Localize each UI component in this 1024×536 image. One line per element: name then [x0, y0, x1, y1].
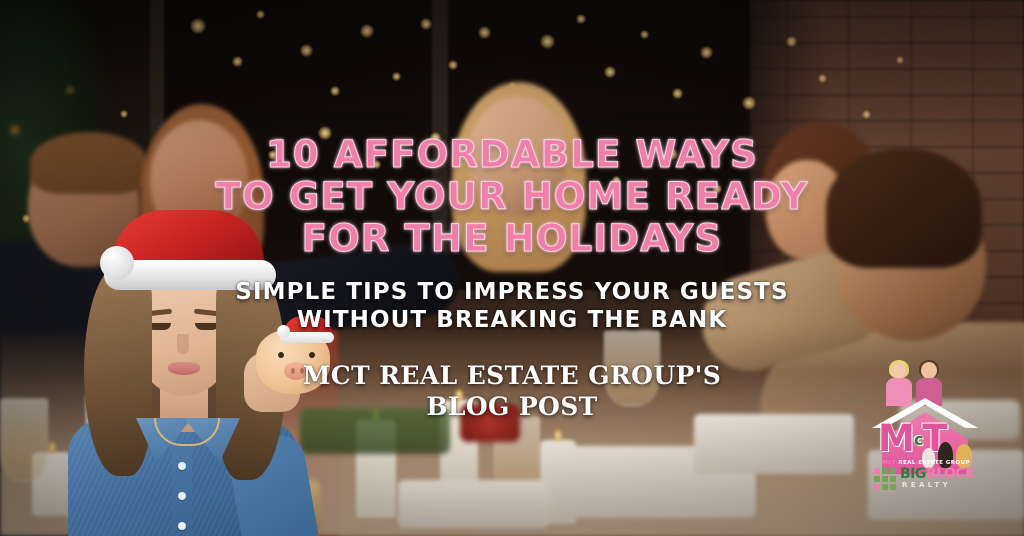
piggy-hat-pompom [277, 325, 290, 338]
logo-agent-brunette [916, 362, 942, 406]
grid-cell [890, 476, 896, 482]
piggy-eye [278, 352, 284, 358]
woman-lips [168, 362, 200, 375]
logo-brokerage-name: BIGBLOCK [900, 467, 976, 482]
grid-cell [890, 484, 896, 490]
piggy-santa-hat-icon [280, 316, 334, 346]
logo-agent-head [891, 362, 907, 379]
shirt-button [178, 462, 186, 470]
grid-cell [882, 468, 888, 474]
logo-agent-torso [886, 378, 912, 406]
grid-cell [874, 484, 880, 490]
piggy-snout [284, 362, 308, 380]
grid-cell [874, 468, 880, 474]
logo-agent-head [921, 362, 937, 379]
grid-cell [882, 476, 888, 482]
logo-brokerage-big: BIG [900, 466, 926, 482]
santa-hat-pompom [100, 246, 134, 280]
piggy-eye [309, 352, 315, 358]
logo-agents-illustration [884, 362, 950, 406]
grid-cell [890, 468, 896, 474]
piggy-nostril [300, 368, 304, 374]
logo-tagline-brand: McT [882, 460, 896, 466]
grid-cell [882, 484, 888, 490]
woman-nose [177, 334, 189, 354]
logo-agent-blonde [886, 362, 912, 406]
logo-brokerage-block: BLOCK [926, 466, 976, 482]
logo-brokerage: BIGBLOCK REALTY [874, 468, 978, 490]
grid-cell [874, 476, 880, 482]
piggy-nostril [291, 368, 295, 374]
mct-real-estate-logo[interactable]: McT McT REAL ESTATE GROUP BIGBLOCK REALT… [866, 362, 984, 490]
logo-brokerage-realty: REALTY [902, 481, 951, 489]
blog-post-banner: 10 AFFORDABLE WAYS TO GET YOUR HOME READ… [0, 0, 1024, 536]
piggy-bank-icon [254, 318, 332, 396]
logo-block-grid-icon [874, 468, 896, 490]
santa-hat-icon [104, 210, 276, 302]
foreground-woman-cutout [58, 206, 318, 536]
shirt-button [178, 522, 186, 530]
shirt-button [178, 492, 186, 500]
